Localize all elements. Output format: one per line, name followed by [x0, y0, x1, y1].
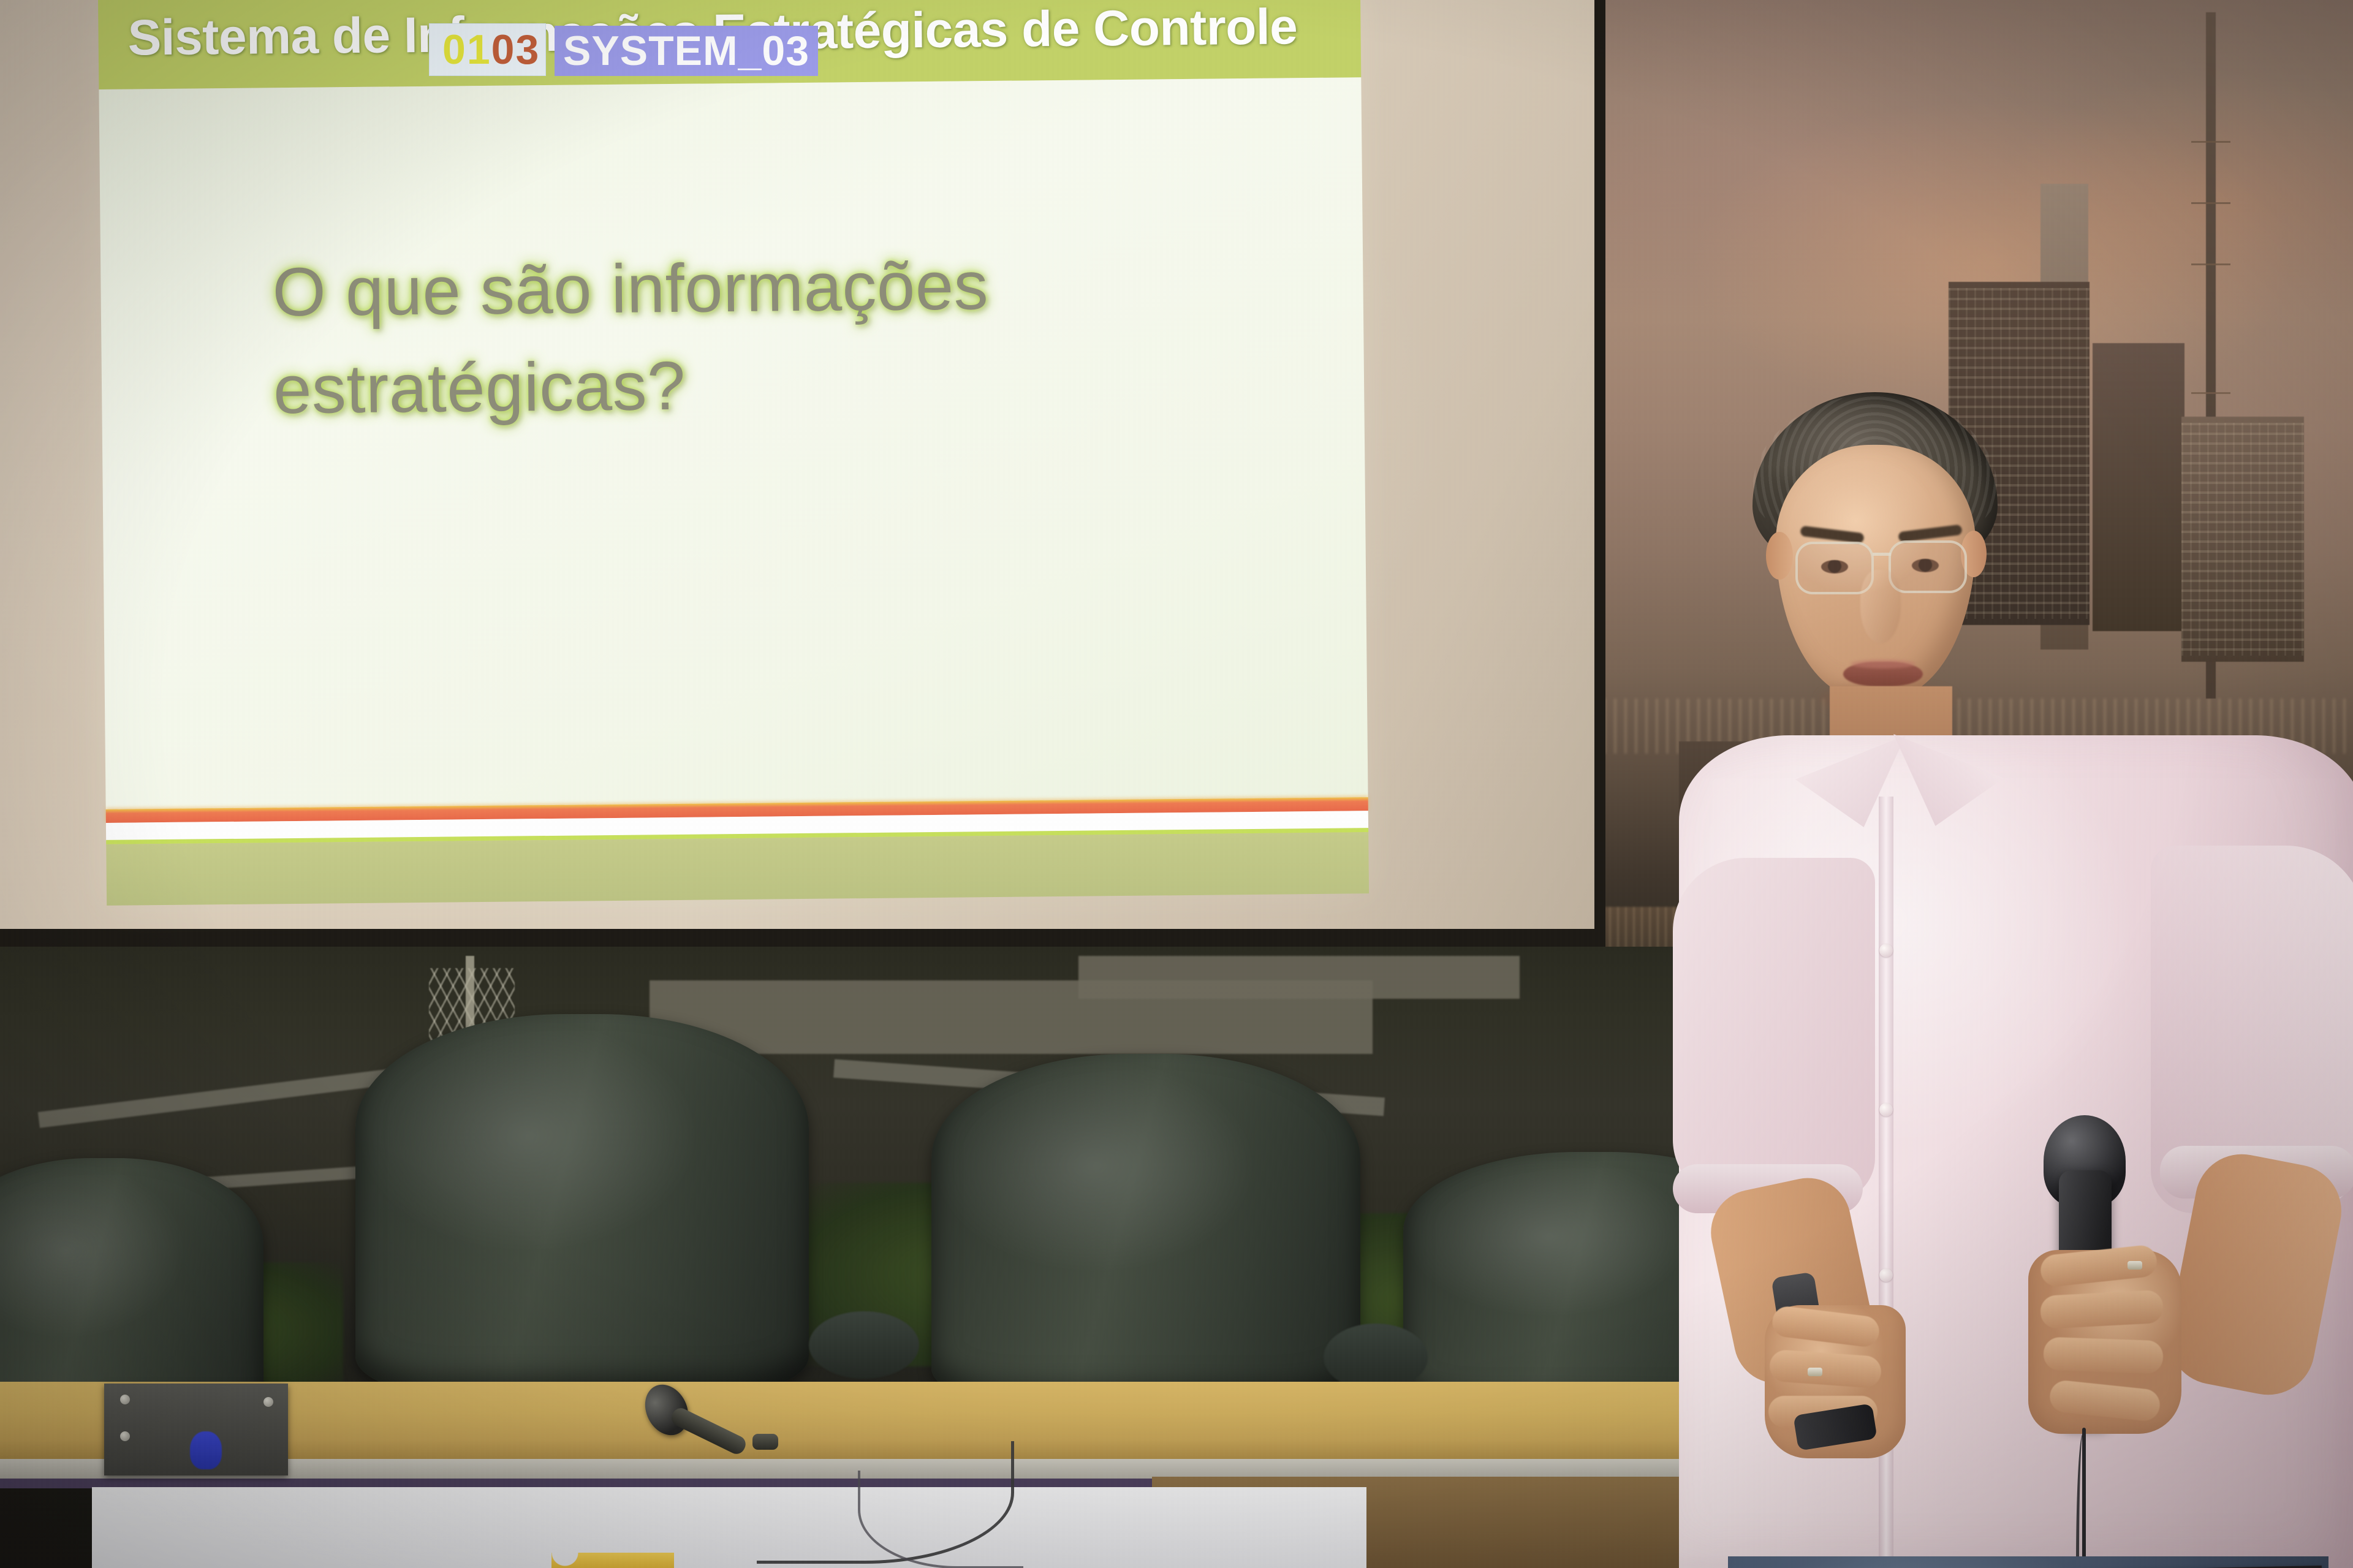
mural-tower-crossbar	[2191, 141, 2230, 143]
shirt-button	[1879, 1268, 1893, 1282]
presenter-upper-lip	[1851, 659, 1915, 668]
chair	[355, 1014, 809, 1394]
institutional-crest-emblem	[551, 1553, 674, 1568]
presenter-finger	[2040, 1290, 2164, 1329]
slide-body	[99, 77, 1368, 809]
equipment-box-screw	[263, 1397, 273, 1407]
mural-aerial-rooftops	[1078, 956, 1520, 999]
overlay-chip-system-label: SYSTEM_03	[555, 26, 818, 76]
presenter-ring-left	[1808, 1368, 1822, 1376]
blue-desk-object	[190, 1431, 222, 1469]
presenter-nose	[1860, 570, 1901, 643]
shirt-button	[1879, 1103, 1893, 1116]
shirt-button	[1879, 944, 1893, 957]
equipment-box-screw	[120, 1395, 130, 1404]
slide-heading-line2: estratégicas?	[273, 347, 686, 428]
presenter	[1489, 392, 2353, 1568]
overlay-number-b: 03	[491, 29, 540, 70]
presenter-ear-left	[1766, 532, 1793, 580]
eyeglasses-bridge	[1873, 553, 1891, 556]
chair-armrest	[809, 1311, 919, 1379]
eyeglasses-lens-right	[1889, 540, 1967, 593]
handheld-microphone-cord-curve	[2076, 1434, 2093, 1568]
shirt-sleeve-left	[1673, 858, 1875, 1201]
chair	[931, 1054, 1360, 1403]
presenter-ring-right	[2128, 1261, 2142, 1270]
slide-heading: O que são informações estratégicas?	[272, 235, 1193, 438]
projected-slide: Sistema de Informações Estratégicas de C…	[98, 0, 1369, 906]
chair-armrest	[1324, 1324, 1428, 1391]
presenter-jeans	[1728, 1556, 2328, 1568]
equipment-box-screw	[120, 1431, 130, 1441]
slide-footer-band	[106, 832, 1369, 906]
presentation-photo-scene: Sistema de Informações Estratégicas de C…	[0, 0, 2353, 1568]
projection-screen-frame: Sistema de Informações Estratégicas de C…	[0, 0, 1605, 947]
mural-tower-crossbar	[2191, 202, 2230, 204]
mural-tower-crossbar	[2191, 263, 2230, 265]
slide-heading-line1: O que são informações	[272, 247, 989, 330]
overlay-number-a: 01	[442, 29, 491, 70]
presenter-finger	[2043, 1337, 2164, 1374]
overlay-chip-numbers: 01 03	[429, 23, 546, 76]
table-front-white-panel	[92, 1487, 1366, 1568]
